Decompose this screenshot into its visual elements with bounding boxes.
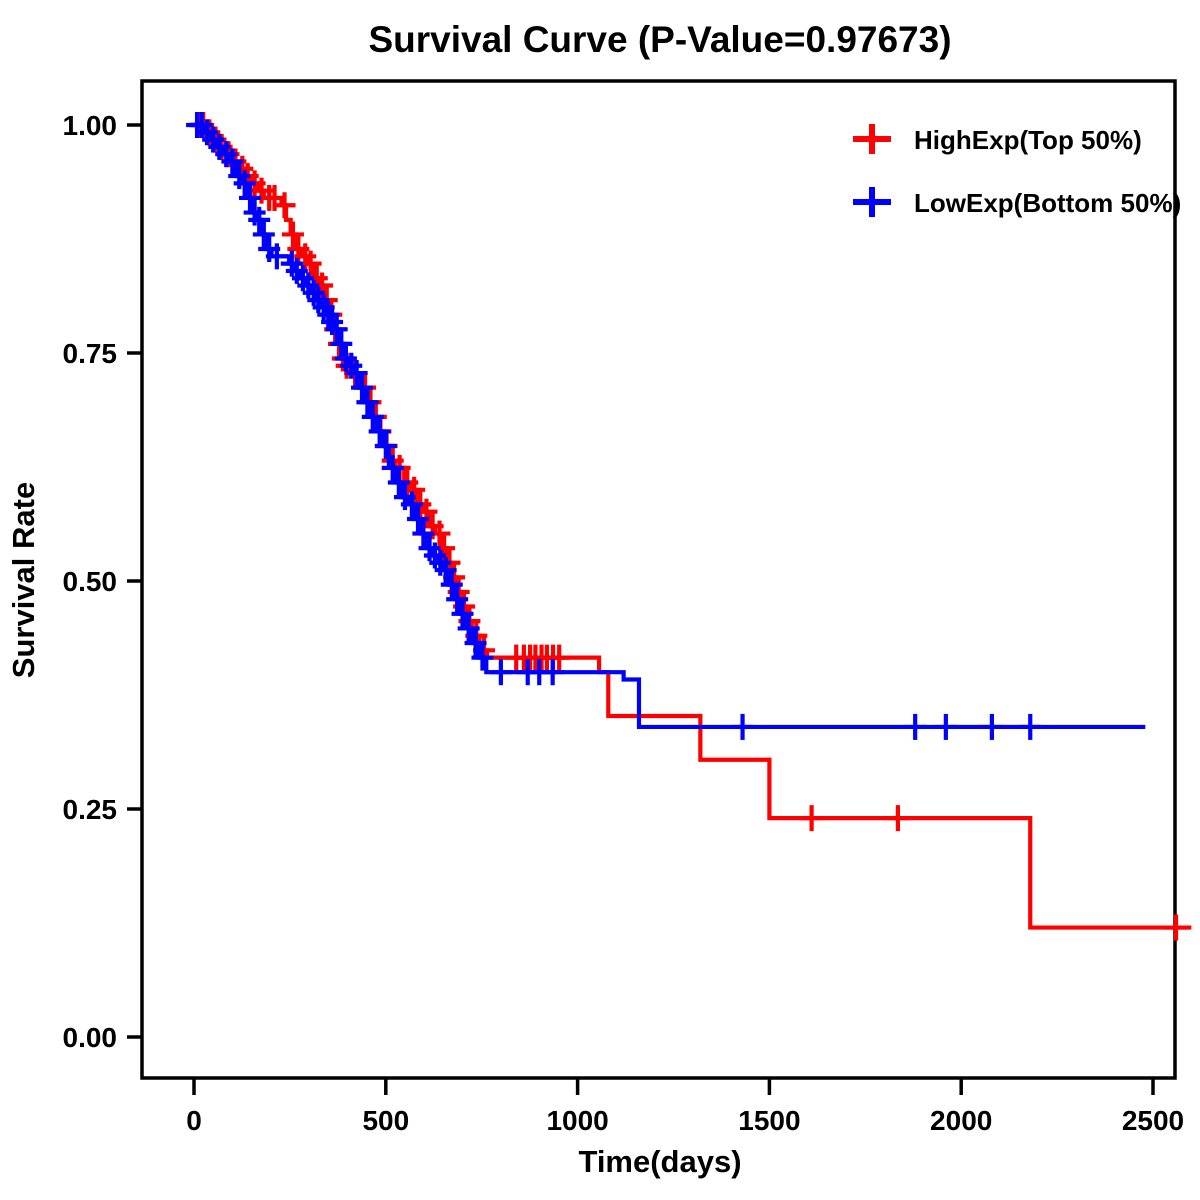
x-tick-label-1500: 1500 (738, 1105, 800, 1136)
plot-frame (142, 81, 1175, 1078)
y-tick-label-0.50: 0.50 (63, 566, 118, 597)
x-axis-title: Time(days) (578, 1144, 741, 1179)
y-axis-ticks: 0.000.250.500.751.00 (63, 110, 143, 1053)
legend-entry-low-exp[interactable]: LowExp(Bottom 50%) (853, 187, 1181, 218)
legend-entry-high-exp[interactable]: HighExp(Top 50%) (853, 124, 1142, 155)
censor-marks (186, 112, 1041, 740)
x-tick-label-500: 500 (362, 1105, 409, 1136)
series-high-exp (189, 112, 1191, 941)
y-tick-label-0.75: 0.75 (63, 338, 118, 369)
survival-plot-svg: Survival Curve (P-Value=0.97673) 0.000.2… (0, 0, 1200, 1200)
chart-title: Survival Curve (P-Value=0.97673) (368, 19, 951, 60)
x-tick-label-0: 0 (186, 1105, 202, 1136)
y-tick-label-0.25: 0.25 (63, 794, 118, 825)
y-tick-label-0.00: 0.00 (63, 1022, 118, 1053)
series-layer (186, 112, 1191, 941)
legend-label: HighExp(Top 50%) (914, 125, 1142, 155)
x-tick-label-1000: 1000 (546, 1105, 608, 1136)
y-axis-title: Survival Rate (6, 482, 41, 678)
y-tick-label-1.00: 1.00 (63, 110, 118, 141)
x-axis-ticks: 05001000150020002500 (186, 1078, 1184, 1136)
survival-curve-figure: Survival Curve (P-Value=0.97673) 0.000.2… (0, 0, 1200, 1200)
chart-legend: HighExp(Top 50%)LowExp(Bottom 50%) (853, 124, 1181, 218)
x-tick-label-2500: 2500 (1122, 1105, 1184, 1136)
censor-marks (189, 112, 1187, 941)
x-tick-label-2000: 2000 (930, 1105, 992, 1136)
km-step-line (194, 125, 1191, 928)
legend-label: LowExp(Bottom 50%) (914, 188, 1181, 218)
